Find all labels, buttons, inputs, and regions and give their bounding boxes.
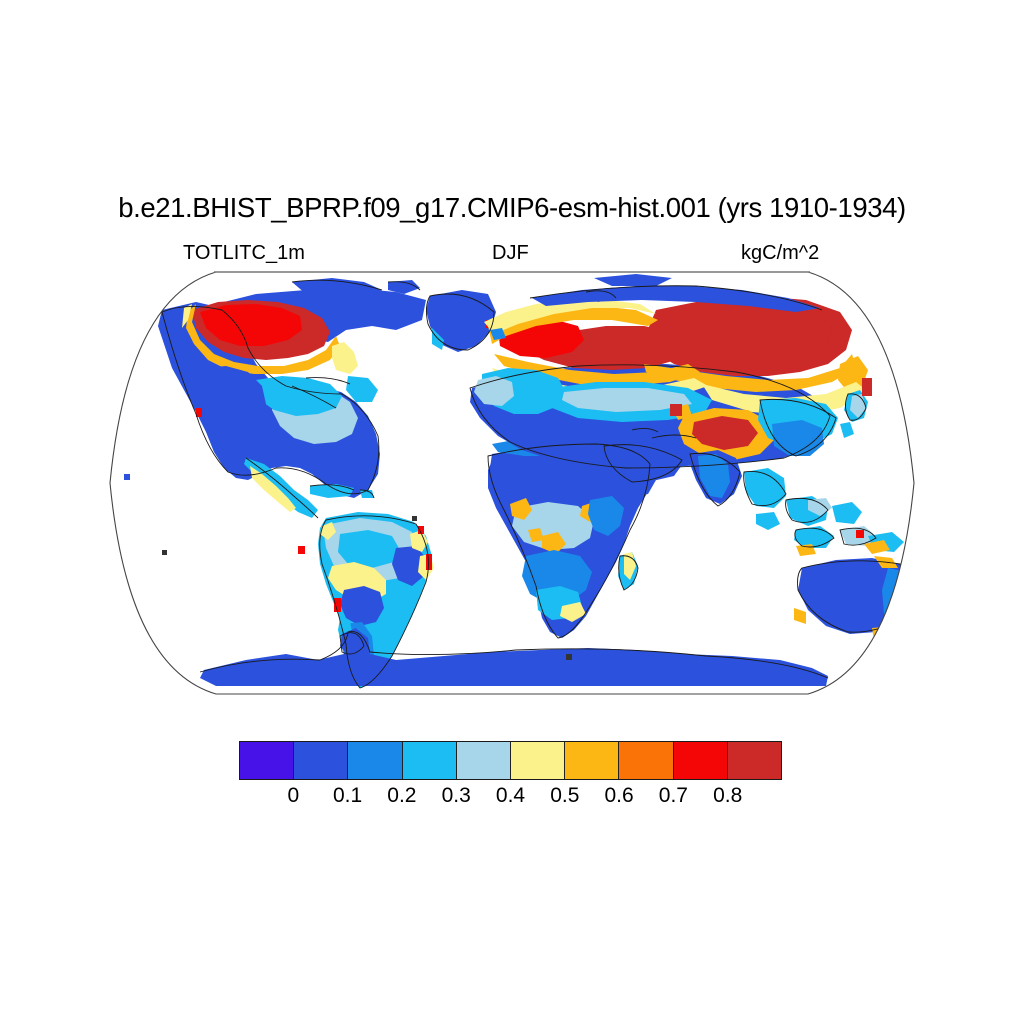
colorbar-tick-6: 0.6 xyxy=(604,784,633,808)
variable-label: TOTLITC_1m xyxy=(183,241,305,265)
colorbar-tick-3: 0.3 xyxy=(442,784,471,808)
colorbar-tick-8: 0.8 xyxy=(713,784,742,808)
colorbar-segment-5[interactable] xyxy=(511,742,565,779)
region-pacific-island xyxy=(908,530,916,539)
colorbar-tick-7: 0.7 xyxy=(659,784,688,808)
colorbar-segment-6[interactable] xyxy=(565,742,619,779)
colorbar-tick-1: 0.1 xyxy=(333,784,362,808)
colorbar[interactable] xyxy=(239,741,782,780)
colorbar-segment-0[interactable] xyxy=(240,742,294,779)
region-new-zealand-fringe xyxy=(926,584,928,630)
region-island-speck-1 xyxy=(124,474,130,480)
colorbar-tick-0: 0 xyxy=(287,784,299,808)
colorbar-tick-2: 0.2 xyxy=(387,784,416,808)
region-tasmania xyxy=(876,632,894,646)
region-png-hotspot xyxy=(856,530,864,538)
units-label: kgC/m^2 xyxy=(741,241,819,265)
map-land-layer xyxy=(96,268,928,698)
region-island-speck-3 xyxy=(412,516,417,521)
region-island-speck-2 xyxy=(162,550,167,555)
region-brazil-coast-hotspot xyxy=(426,554,432,570)
colorbar-segment-1[interactable] xyxy=(294,742,348,779)
region-kamchatka-hotspot xyxy=(862,378,872,396)
colorbar-segments[interactable] xyxy=(239,741,782,780)
season-label: DJF xyxy=(492,241,529,265)
page-title: b.e21.BHIST_BPRP.f09_g17.CMIP6-esm-hist.… xyxy=(0,192,1024,224)
colorbar-segment-3[interactable] xyxy=(403,742,457,779)
region-altai-hotspot xyxy=(670,404,682,416)
colorbar-tick-labels: 00.10.20.30.40.50.60.70.8 xyxy=(239,784,782,810)
world-map xyxy=(96,268,928,698)
region-amazon-core xyxy=(338,530,400,568)
region-island-speck-5 xyxy=(708,658,714,664)
colorbar-segment-8[interactable] xyxy=(674,742,728,779)
figure-canvas: b.e21.BHIST_BPRP.f09_g17.CMIP6-esm-hist.… xyxy=(0,0,1024,1024)
map-panel xyxy=(96,268,928,698)
region-australia-east xyxy=(882,568,916,624)
colorbar-segment-7[interactable] xyxy=(619,742,673,779)
colorbar-segment-9[interactable] xyxy=(728,742,781,779)
region-galapagos xyxy=(298,546,305,554)
colorbar-tick-5: 0.5 xyxy=(550,784,579,808)
colorbar-segment-4[interactable] xyxy=(457,742,511,779)
colorbar-tick-4: 0.4 xyxy=(496,784,525,808)
region-island-speck-4 xyxy=(566,654,572,660)
colorbar-segment-2[interactable] xyxy=(348,742,402,779)
